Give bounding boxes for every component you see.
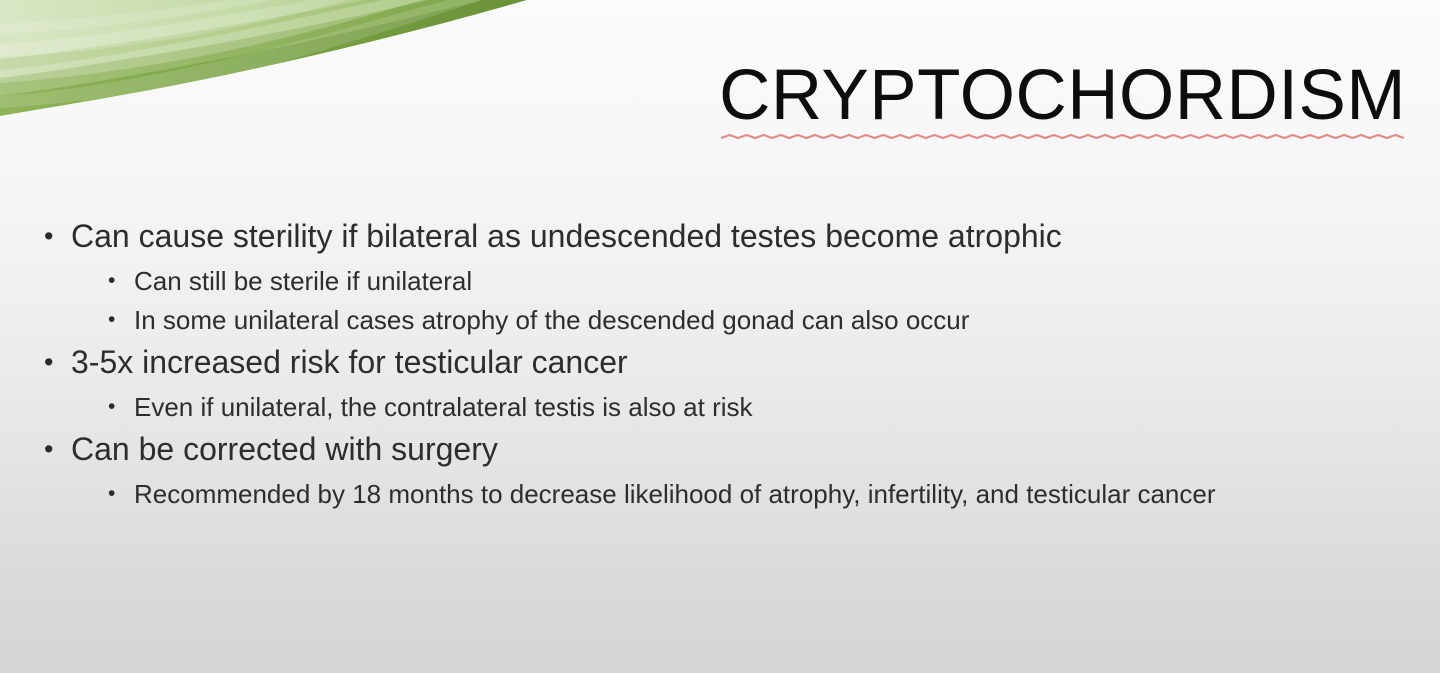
bullet-marker-icon: •: [108, 475, 134, 513]
bullet-item: • Recommended by 18 months to decrease l…: [0, 475, 1440, 513]
squiggle-wave-icon: [721, 133, 1404, 140]
bullet-text: Recommended by 18 months to decrease lik…: [134, 475, 1364, 513]
bullet-marker-icon: •: [108, 388, 134, 426]
bullet-text: Can be corrected with surgery: [71, 427, 1401, 472]
bullet-text: Can cause sterility if bilateral as unde…: [71, 214, 1401, 259]
bullet-text: 3-5x increased risk for testicular cance…: [71, 340, 1401, 385]
slide-title[interactable]: CRYPTOCHORDISM: [719, 60, 1406, 131]
bullet-marker-icon: •: [44, 214, 71, 259]
bullet-marker-icon: •: [108, 262, 134, 300]
bullet-text: Can still be sterile if unilateral: [134, 262, 1364, 300]
green-swoosh-decoration: [0, 0, 640, 170]
presentation-slide: CRYPTOCHORDISM • Can cause sterility if …: [0, 0, 1440, 673]
title-placeholder: CRYPTOCHORDISM: [719, 60, 1406, 131]
bullet-item: • Can be corrected with surgery: [0, 427, 1440, 472]
content-placeholder: • Can cause sterility if bilateral as un…: [0, 214, 1440, 514]
bullet-text: Even if unilateral, the contralateral te…: [134, 388, 1364, 426]
bullet-item: • Even if unilateral, the contralateral …: [0, 388, 1440, 426]
bullet-item: • Can still be sterile if unilateral: [0, 262, 1440, 300]
bullet-item: • 3-5x increased risk for testicular can…: [0, 340, 1440, 385]
bullet-marker-icon: •: [44, 427, 71, 472]
bullet-item: • In some unilateral cases atrophy of th…: [0, 301, 1440, 339]
bullet-text: In some unilateral cases atrophy of the …: [134, 301, 1364, 339]
bullet-marker-icon: •: [44, 340, 71, 385]
bullet-item: • Can cause sterility if bilateral as un…: [0, 214, 1440, 259]
green-swoosh-icon: [0, 0, 640, 170]
spellcheck-underline-icon: [721, 133, 1404, 140]
bullet-marker-icon: •: [108, 301, 134, 339]
slide-title-text: CRYPTOCHORDISM: [719, 56, 1406, 135]
